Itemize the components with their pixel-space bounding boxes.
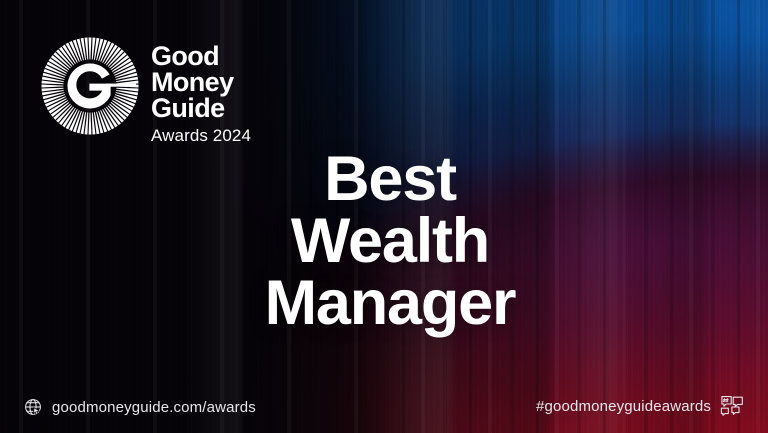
sunburst-g-monogram-icon — [40, 36, 140, 136]
footer-hashtag[interactable]: #goodmoneyguideawards — [536, 395, 744, 417]
brand-awards-year: Awards 2024 — [151, 126, 251, 146]
brand-wordmark: Good Money Guide Awards 2024 — [151, 36, 251, 146]
hashtag-speech-bubbles-icon — [720, 395, 744, 417]
award-title: Best Wealth Manager — [0, 148, 768, 334]
award-title-line-1: Best — [12, 148, 768, 210]
footer-website[interactable]: goodmoneyguide.com/awards — [24, 398, 256, 417]
award-card: Good Money Guide Awards 2024 Best Wealth… — [0, 0, 768, 433]
brand-word-guide: Guide — [151, 95, 251, 121]
brand-logo-lockup: Good Money Guide Awards 2024 — [40, 36, 251, 146]
footer-hashtag-text: #goodmoneyguideawards — [536, 398, 711, 415]
brand-word-good: Good — [151, 43, 251, 69]
brand-word-money: Money — [151, 69, 251, 95]
award-title-line-3: Manager — [12, 272, 768, 334]
globe-cursor-icon — [24, 398, 43, 417]
award-title-line-2: Wealth — [12, 210, 768, 272]
footer-website-url: goodmoneyguide.com/awards — [52, 399, 256, 416]
